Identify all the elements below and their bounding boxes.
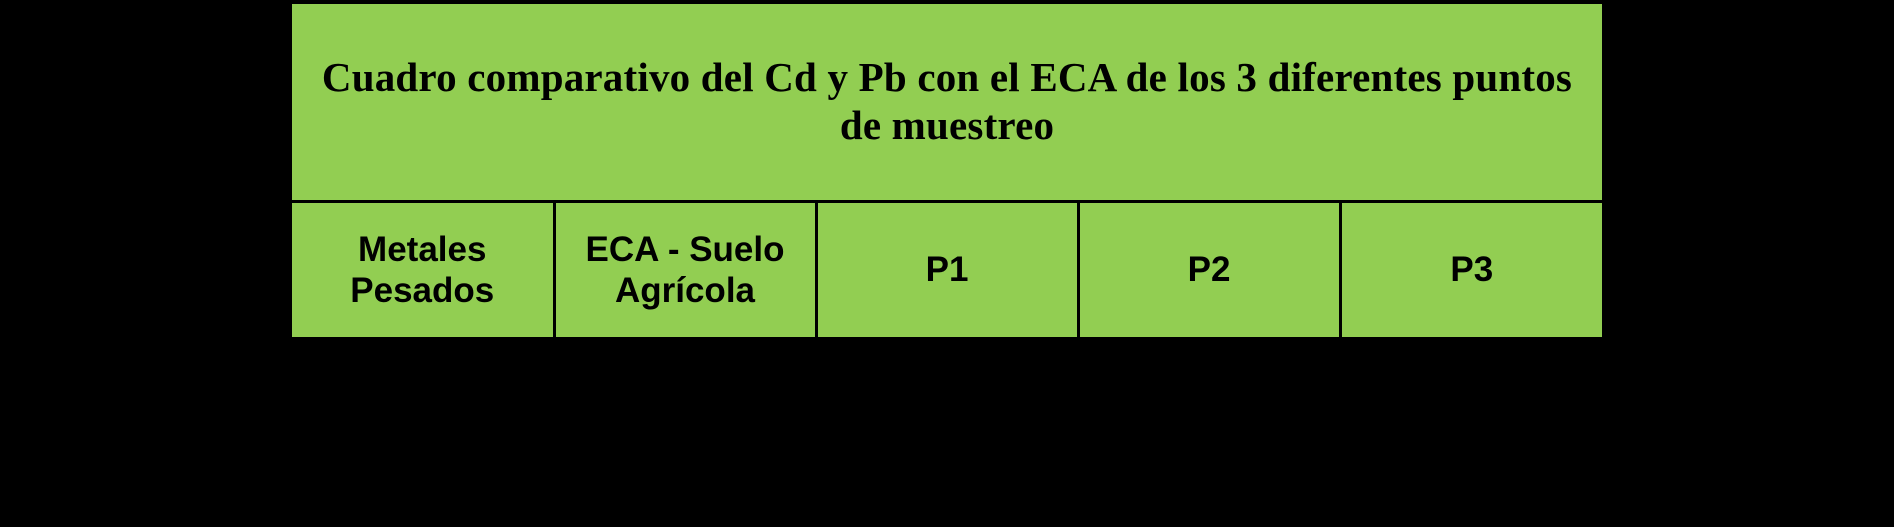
table-title-cell: Cuadro comparativo del Cd y Pb con el EC… <box>292 4 1602 202</box>
column-header-label: Metales Pesados <box>292 229 553 312</box>
column-header-p3: P3 <box>1340 202 1602 338</box>
table-header-row: Metales Pesados ECA - Suelo Agrícola P1 … <box>292 202 1602 338</box>
column-header-p1: P1 <box>816 202 1078 338</box>
column-header-label: P2 <box>1080 249 1339 290</box>
column-header-label: ECA - Suelo Agrícola <box>556 229 815 312</box>
table-title-row: Cuadro comparativo del Cd y Pb con el EC… <box>292 4 1602 202</box>
column-header-label: P1 <box>818 249 1077 290</box>
page-title: Cuadro comparativo del Cd y Pb con el EC… <box>318 54 1576 150</box>
column-header-eca-suelo-agricola: ECA - Suelo Agrícola <box>554 202 816 338</box>
column-header-p2: P2 <box>1078 202 1340 338</box>
comparison-table: Cuadro comparativo del Cd y Pb con el EC… <box>292 4 1602 337</box>
column-header-metales-pesados: Metales Pesados <box>292 202 554 338</box>
comparison-table-container: Cuadro comparativo del Cd y Pb con el EC… <box>292 4 1602 334</box>
screenshot-canvas: Cuadro comparativo del Cd y Pb con el EC… <box>0 0 1894 527</box>
column-header-label: P3 <box>1342 249 1603 290</box>
